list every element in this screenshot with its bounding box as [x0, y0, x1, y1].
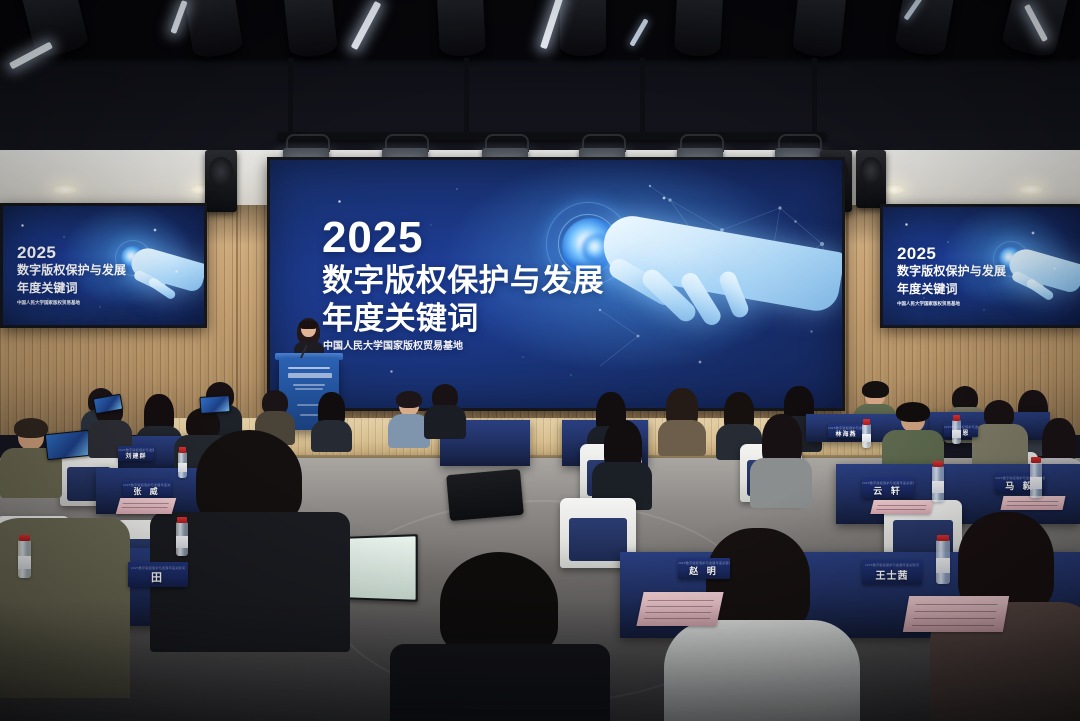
name-placard: 2025数字版权保护与发展年度关键词 刘建群: [118, 446, 154, 461]
placard-name: 田: [151, 569, 165, 585]
placard-name: 张 威: [133, 486, 160, 497]
lighting-truss: [278, 132, 826, 140]
ceiling-baffle: [436, 0, 486, 57]
podium-text-line: [295, 388, 323, 390]
podium-text-line: [293, 384, 325, 386]
handout-paper: [1001, 496, 1066, 510]
podium-text-line: [300, 414, 318, 416]
truss-drop-rod: [288, 58, 293, 136]
placard-header: 2025数字版权保护与发展年度关键词: [128, 566, 188, 570]
handout-paper: [870, 500, 933, 514]
water-bottle: [952, 420, 961, 444]
truss-drop-rod: [812, 58, 817, 136]
main-screen-line1: 数字版权保护与发展: [322, 264, 604, 299]
main-screen-year: 2025: [322, 216, 423, 260]
recessed-downlight: [1018, 184, 1044, 195]
bag: [446, 469, 524, 521]
main-led-screen: 2025 数字版权保护与发展 年度关键词 中国人民大学国家版权贸易基地: [267, 157, 845, 411]
name-placard: 2025数字版权保护与发展年度关键词 王士茜: [862, 560, 922, 584]
truss-drop-rod: [640, 58, 645, 138]
handout-paper: [903, 596, 1009, 632]
right-screen-year: 2025: [897, 245, 936, 262]
podium-title-block: [288, 373, 332, 378]
ceiling-baffle: [674, 0, 724, 57]
water-bottle: [936, 540, 950, 584]
handout-paper: [116, 498, 177, 514]
name-placard: 2025数字版权保护与发展年度关键词 赵 明: [678, 558, 730, 579]
name-placard: 2025数字版权保护与发展年度关键词 林海燕: [828, 424, 864, 438]
wall-seam: [846, 205, 848, 435]
placard-header: 2025数字版权保护与发展年度关键词: [862, 481, 914, 485]
right-screen-subtitle: 中国人民大学国家版权贸易基地: [897, 302, 960, 307]
placard-name: 刘建群: [125, 451, 146, 460]
right-screen-line2: 年度关键词: [897, 283, 958, 296]
name-placard: 2025数字版权保护与发展年度关键词 田: [128, 562, 188, 587]
presenter-fringe: [299, 320, 318, 329]
handout-paper: [636, 592, 723, 626]
main-screen-line2: 年度关键词: [322, 302, 479, 337]
right-screen-line1: 数字版权保护与发展: [897, 265, 1006, 278]
smartphone[interactable]: [45, 430, 91, 460]
name-placard: 2025数字版权保护与发展年度关键词 王 恩: [944, 423, 978, 437]
left-screen-year: 2025: [17, 244, 56, 261]
left-screen-subtitle: 中国人民大学国家版权贸易基地: [17, 301, 80, 306]
truss-drop-rod: [464, 58, 469, 138]
right-led-screen: 2025 数字版权保护与发展 年度关键词 中国人民大学国家版权贸易基地: [880, 204, 1080, 328]
pa-speaker: [205, 150, 237, 212]
conference-hall-photo: 2025 数字版权保护与发展 年度关键词 中国人民大学国家版权贸易基地: [0, 0, 1080, 721]
water-bottle: [176, 522, 188, 556]
podium-text-line: [288, 367, 330, 369]
recessed-downlight: [52, 184, 78, 195]
placard-header: 2025数字版权保护与发展年度关键词: [118, 448, 154, 452]
smartphone[interactable]: [199, 395, 230, 414]
placard-header: 2025数字版权保护与发展年度关键词: [123, 483, 171, 487]
ceiling-baffle: [792, 0, 848, 58]
name-placard: 2025数字版权保护与发展年度关键词 张 威: [123, 480, 171, 499]
placard-header: 2025数字版权保护与发展年度关键词: [862, 563, 922, 567]
placard-header: 2025数字版权保护与发展年度关键词: [678, 561, 730, 565]
water-bottle: [178, 452, 187, 478]
pa-speaker: [856, 150, 886, 208]
left-screen-line2: 年度关键词: [17, 282, 78, 295]
placard-header: 2025数字版权保护与发展年度关键词: [828, 426, 864, 430]
left-screen-line1: 数字版权保护与发展: [17, 264, 126, 277]
placard-name: 王士茜: [876, 567, 909, 582]
main-screen-subtitle: 中国人民大学国家版权贸易基地: [323, 342, 463, 352]
name-placard: 2025数字版权保护与发展年度关键词 云 轩: [862, 478, 914, 498]
water-bottle: [18, 540, 31, 578]
water-bottle: [932, 466, 944, 502]
placard-name: 云 轩: [873, 484, 903, 497]
left-led-screen: 2025 数字版权保护与发展 年度关键词 中国人民大学国家版权贸易基地: [0, 203, 207, 328]
water-bottle: [1030, 462, 1042, 498]
ceiling-baffle: [560, 0, 606, 56]
wall-seam: [236, 205, 238, 435]
ceiling-baffle: [282, 0, 338, 58]
water-bottle: [862, 424, 871, 448]
placard-header: 2025数字版权保护与发展年度关键词: [944, 425, 978, 429]
placard-name: 赵 明: [689, 564, 719, 577]
